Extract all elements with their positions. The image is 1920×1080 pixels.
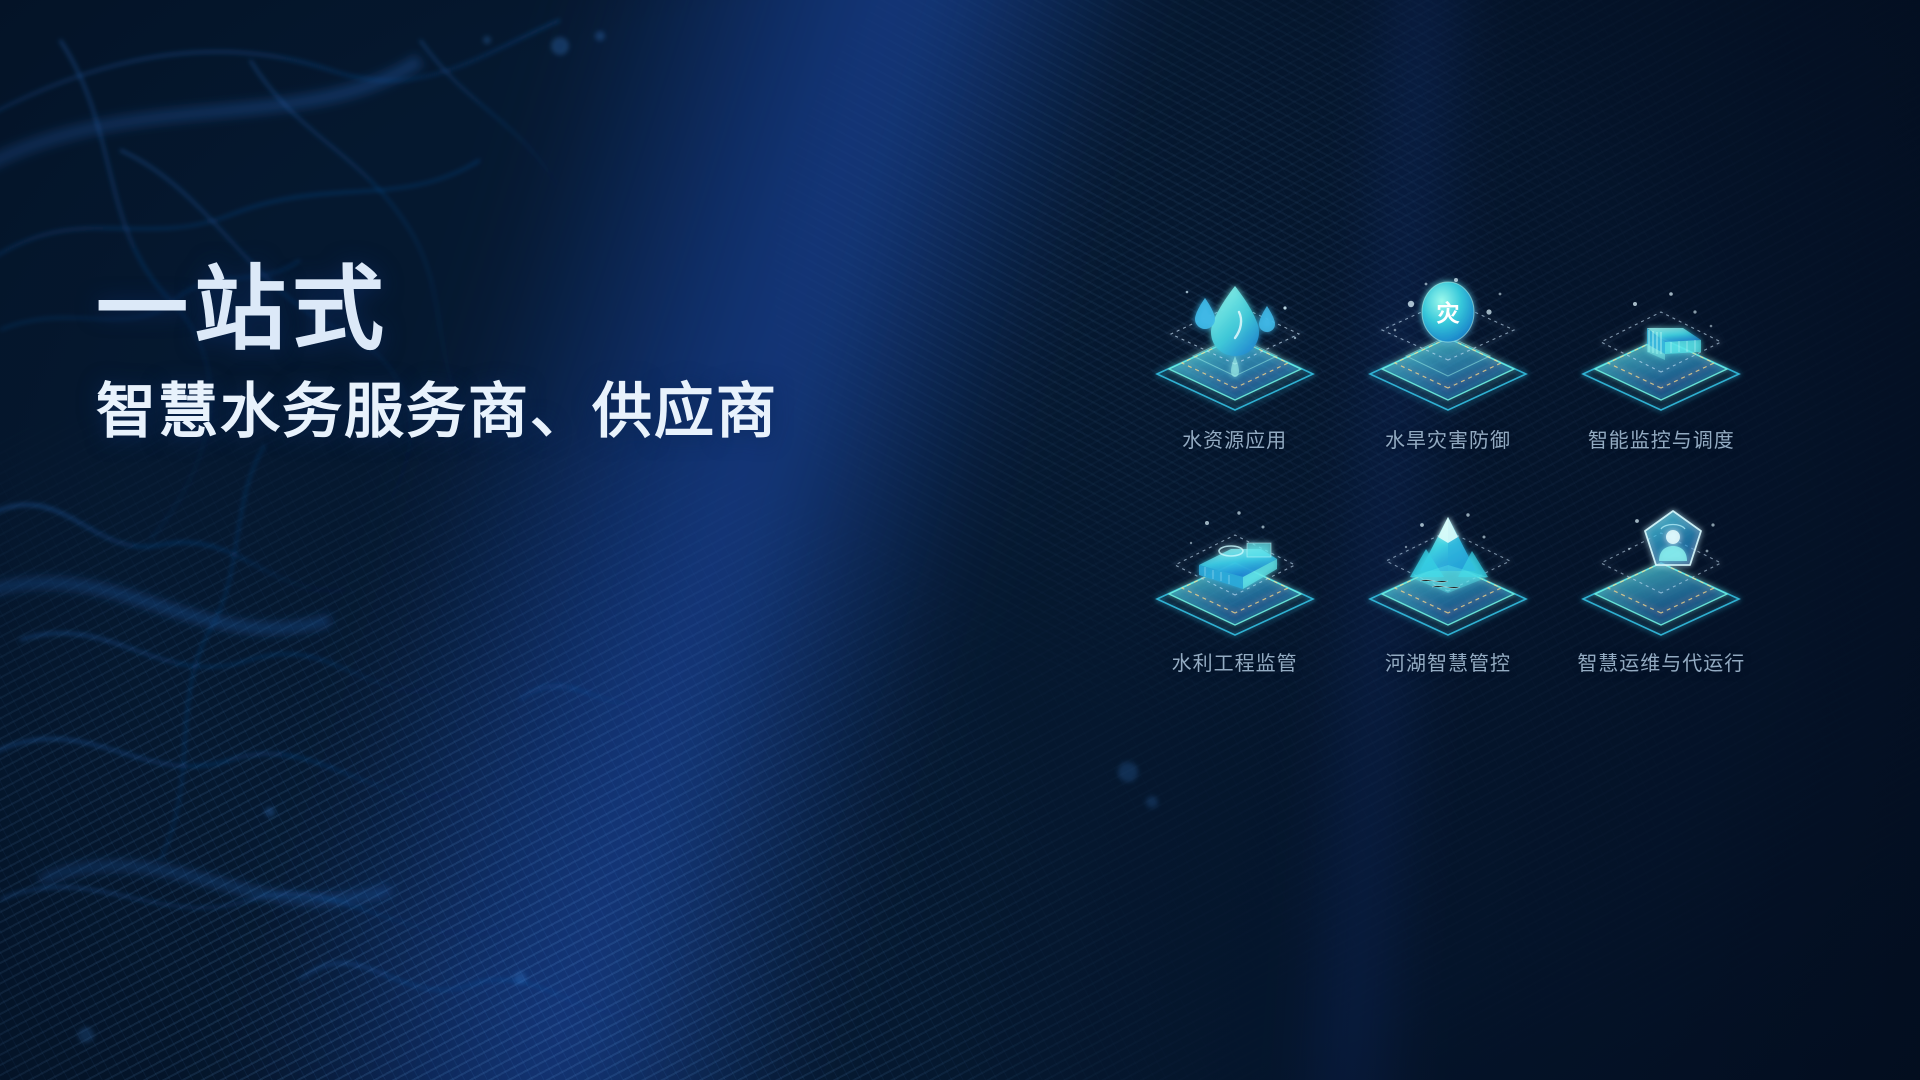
grid-item-water-resource[interactable]: 水资源应用	[1128, 268, 1341, 453]
disaster-badge-character: 灾	[1436, 300, 1459, 326]
mountain-river-icon	[1348, 493, 1548, 643]
dam-monitor-icon	[1561, 268, 1761, 418]
service-icon-grid: 水资源应用	[1128, 268, 1768, 676]
grid-item-label: 水利工程监管	[1172, 647, 1298, 676]
grid-item-smart-monitoring-dispatch[interactable]: 智能监控与调度	[1555, 268, 1768, 453]
grid-item-label: 智慧运维与代运行	[1577, 647, 1745, 676]
hero-copy: 一站式 智慧水务服务商、供应商	[96, 262, 778, 446]
grid-item-river-lake-smart-control[interactable]: 河湖智慧管控	[1341, 493, 1554, 676]
slide-canvas: 一站式 智慧水务服务商、供应商	[0, 0, 1920, 1080]
grid-item-label: 河湖智慧管控	[1385, 647, 1511, 676]
shield-operations-icon	[1561, 493, 1761, 643]
grid-item-flood-drought-defense[interactable]: 灾 水旱灾害防御	[1341, 268, 1554, 453]
disaster-sphere-icon: 灾	[1348, 268, 1548, 418]
page-subtitle: 智慧水务服务商、供应商	[96, 377, 778, 446]
grid-item-label: 水旱灾害防御	[1385, 424, 1511, 453]
page-title: 一站式	[96, 262, 778, 359]
grid-item-label: 水资源应用	[1182, 424, 1287, 453]
grid-item-label: 智能监控与调度	[1588, 424, 1735, 453]
grid-item-water-project-supervision[interactable]: 水利工程监管	[1128, 493, 1341, 676]
water-droplet-icon	[1135, 268, 1335, 418]
hydro-structure-icon	[1135, 493, 1335, 643]
grid-item-smart-ops-hosting[interactable]: 智慧运维与代运行	[1555, 493, 1768, 676]
